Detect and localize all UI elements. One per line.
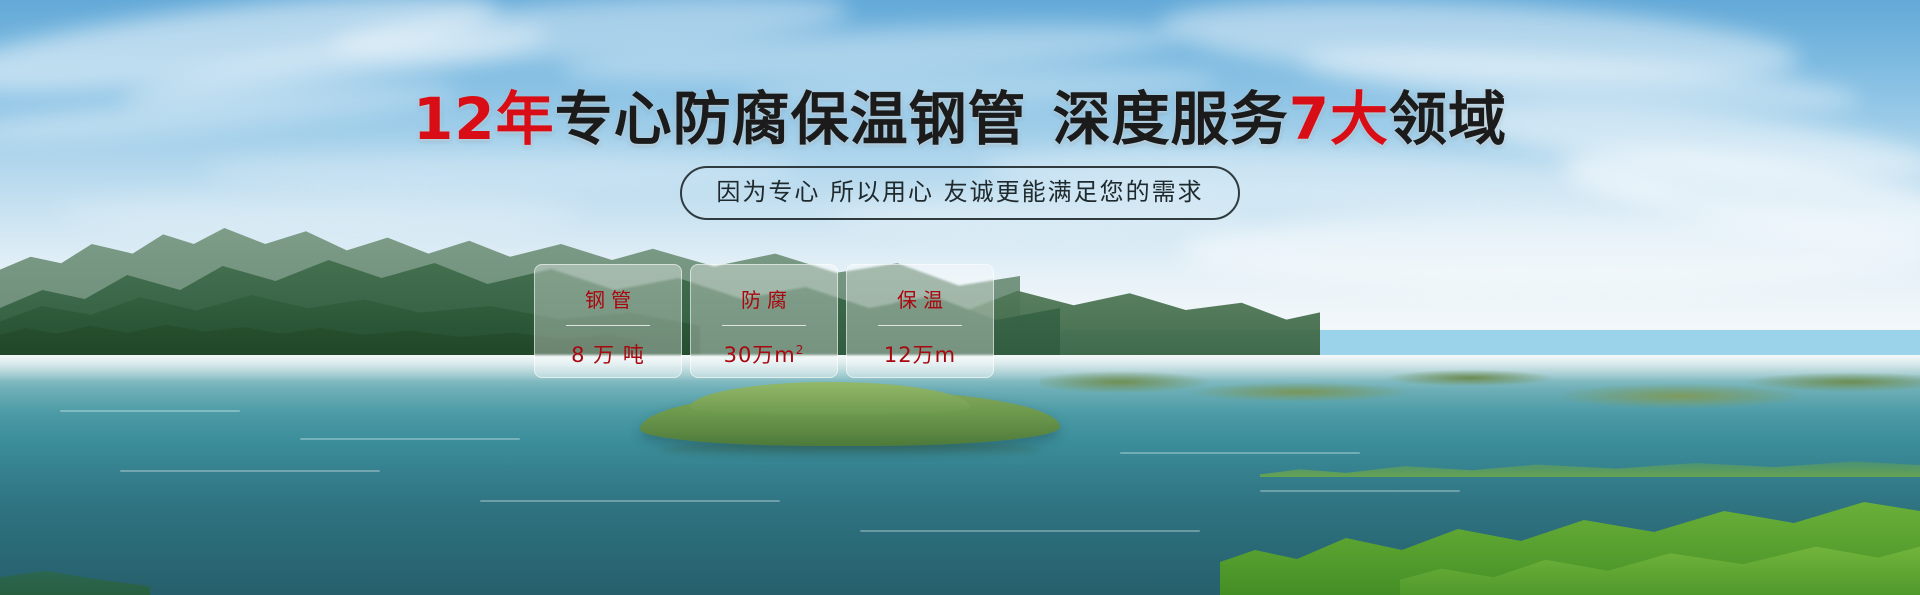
stat-card-title: 防腐 [735,288,793,312]
stat-card-anticorrosion: 防腐 30万m2 [690,264,838,378]
headline-segment-service: 深度服务 [1053,85,1289,153]
water-ripple [860,530,1200,532]
water-ripple [120,470,380,472]
headline: 12年专心防腐保温钢管深度服务7大领域 [0,88,1920,150]
stat-card-value-text: 12万m [884,343,956,367]
stat-cards: 钢管 8 万 吨 防腐 30万m2 保温 12万m [534,264,994,378]
hero-banner: 12年专心防腐保温钢管深度服务7大领域 因为专心 所以用心 友诚更能满足您的需求… [0,0,1920,595]
marsh-vegetation [1040,362,1920,432]
stat-card-value-text: 30万m [724,343,796,367]
stat-card-divider [566,325,650,326]
stat-card-value: 8 万 吨 [571,338,645,367]
headline-segment-years: 12年 [413,85,555,153]
stat-card-value: 30万m2 [724,338,805,367]
stat-card-value-sup: 2 [796,343,805,357]
cloud-shape [1180,210,1920,290]
stat-card-value: 12万m [884,338,956,367]
headline-segment-main: 专心防腐保温钢管 [555,85,1027,153]
stat-card-steel-pipe: 钢管 8 万 吨 [534,264,682,378]
water-ripple [300,438,520,440]
stat-card-divider [722,325,806,326]
water-ripple [1120,452,1360,454]
headline-segment-seven: 7大 [1289,85,1389,153]
subtitle-pill: 因为专心 所以用心 友诚更能满足您的需求 [680,166,1239,220]
water-ripple [480,500,780,502]
stat-card-divider [878,325,962,326]
headline-segment-fields: 领域 [1389,85,1507,153]
subtitle-container: 因为专心 所以用心 友诚更能满足您的需求 [0,166,1920,220]
stat-card-title: 保温 [891,288,949,312]
stat-card-insulation: 保温 12万m [846,264,994,378]
water-ripple [1260,490,1460,492]
stat-card-value-text: 8 万 吨 [571,343,645,367]
stat-card-title: 钢管 [579,288,637,312]
water-ripple [60,410,240,412]
